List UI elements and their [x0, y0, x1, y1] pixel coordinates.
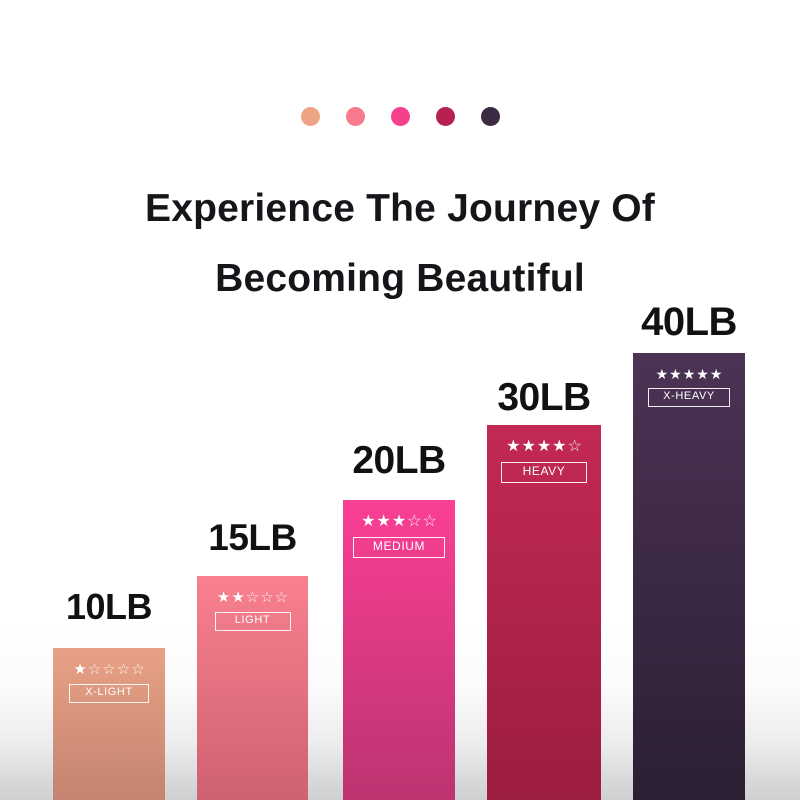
star-filled-icon: ★ — [376, 514, 390, 530]
star-empty-icon: ☆ — [423, 514, 437, 530]
bar-group[interactable]: 10LB★☆☆☆☆X-LIGHT — [53, 589, 165, 800]
star-filled-icon: ★ — [669, 367, 682, 381]
star-empty-icon: ☆ — [102, 662, 115, 677]
star-empty-icon: ☆ — [117, 662, 130, 677]
bar-rating-block: ★☆☆☆☆X-LIGHT — [53, 662, 165, 703]
bar-group[interactable]: 20LB★★★☆☆MEDIUM — [343, 441, 455, 800]
resistance-band-bar-chart: 10LB★☆☆☆☆X-LIGHT15LB★★☆☆☆LIGHT20LB★★★☆☆M… — [0, 0, 800, 800]
bar-group[interactable]: 40LB★★★★★X-HEAVY — [633, 302, 745, 800]
star-filled-icon: ★ — [552, 439, 566, 455]
star-empty-icon: ☆ — [260, 590, 273, 605]
bar-group[interactable]: 30LB★★★★☆HEAVY — [487, 378, 601, 800]
bar-weight-label: 10LB — [53, 589, 165, 625]
bar-weight-label: 20LB — [343, 441, 455, 480]
bar-heavy[interactable]: ★★★★☆HEAVY — [487, 425, 601, 800]
level-badge: X-HEAVY — [648, 388, 730, 407]
bar-medium[interactable]: ★★★☆☆MEDIUM — [343, 500, 455, 800]
star-filled-icon: ★ — [361, 514, 375, 530]
star-filled-icon: ★ — [521, 439, 535, 455]
star-filled-icon: ★ — [73, 662, 86, 677]
bar-light[interactable]: ★★☆☆☆LIGHT — [197, 576, 308, 800]
bar-weight-label: 15LB — [197, 519, 308, 556]
bar-group[interactable]: 15LB★★☆☆☆LIGHT — [197, 519, 308, 800]
star-filled-icon: ★ — [231, 590, 244, 605]
infographic-canvas: Experience The Journey Of Becoming Beaut… — [0, 0, 800, 800]
star-empty-icon: ☆ — [275, 590, 288, 605]
star-rating: ★★☆☆☆ — [217, 590, 288, 605]
bar-rating-block: ★★★★☆HEAVY — [487, 439, 601, 483]
star-filled-icon: ★ — [696, 367, 709, 381]
star-filled-icon: ★ — [217, 590, 230, 605]
star-rating: ★☆☆☆☆ — [73, 662, 144, 677]
star-rating: ★★★★★ — [656, 367, 723, 381]
star-filled-icon: ★ — [710, 367, 723, 381]
star-filled-icon: ★ — [392, 514, 406, 530]
bar-rating-block: ★★☆☆☆LIGHT — [197, 590, 308, 631]
star-filled-icon: ★ — [506, 439, 520, 455]
bar-x-heavy[interactable]: ★★★★★X-HEAVY — [633, 353, 745, 800]
star-empty-icon: ☆ — [407, 514, 421, 530]
star-empty-icon: ☆ — [568, 439, 582, 455]
level-badge: LIGHT — [215, 612, 291, 631]
level-badge: MEDIUM — [353, 537, 445, 558]
star-empty-icon: ☆ — [246, 590, 259, 605]
level-badge: HEAVY — [501, 462, 587, 483]
star-filled-icon: ★ — [537, 439, 551, 455]
bar-weight-label: 30LB — [487, 378, 601, 417]
star-filled-icon: ★ — [683, 367, 696, 381]
bar-rating-block: ★★★★★X-HEAVY — [633, 367, 745, 407]
bar-x-light[interactable]: ★☆☆☆☆X-LIGHT — [53, 648, 165, 800]
star-empty-icon: ☆ — [88, 662, 101, 677]
level-badge: X-LIGHT — [69, 684, 149, 703]
star-rating: ★★★★☆ — [506, 439, 582, 455]
star-empty-icon: ☆ — [131, 662, 144, 677]
star-rating: ★★★☆☆ — [361, 514, 437, 530]
star-filled-icon: ★ — [656, 367, 669, 381]
bar-weight-label: 40LB — [633, 302, 745, 342]
bar-rating-block: ★★★☆☆MEDIUM — [343, 514, 455, 558]
